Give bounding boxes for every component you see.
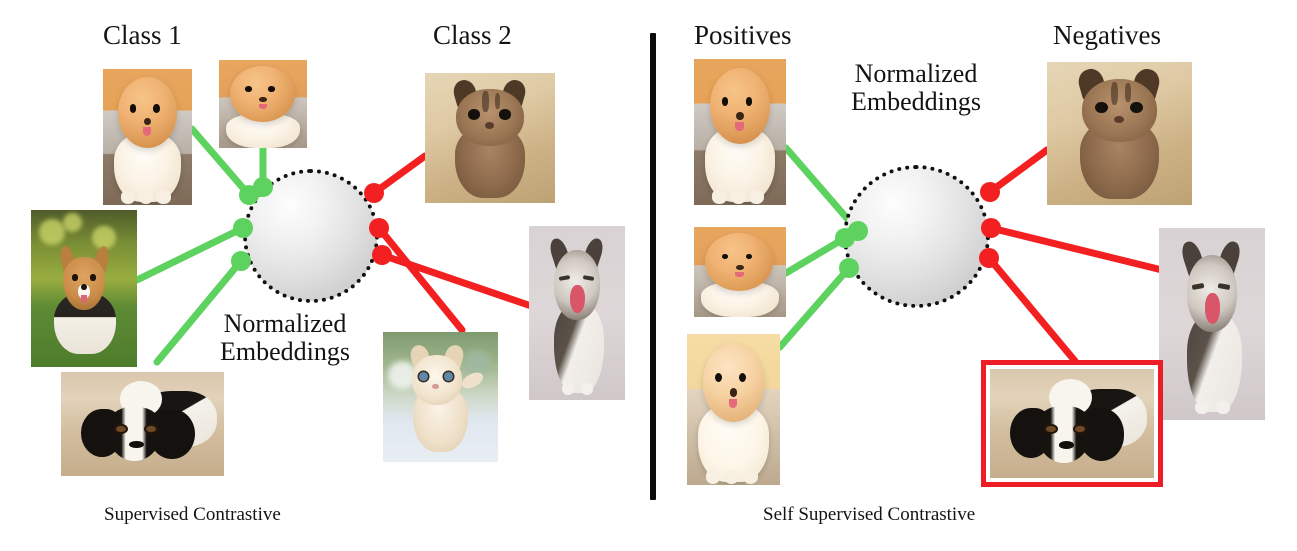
figure-canvas: Class 1 Class 2 (0, 0, 1297, 551)
sample-sup-pos-4[interactable] (61, 372, 224, 476)
normalized-embeddings-label-right: Normalized Embeddings (806, 60, 1026, 116)
sample-ssl-neg-2[interactable] (1159, 228, 1265, 420)
heading-negatives: Negatives (1053, 22, 1161, 49)
heading-positives: Positives (694, 22, 792, 49)
sample-ssl-pos-2[interactable] (694, 227, 786, 317)
panel-supervised: Class 1 Class 2 (0, 0, 653, 551)
embedding-sphere-outline-left (243, 169, 379, 303)
heading-class-2: Class 2 (433, 22, 512, 49)
label-line-1: Normalized (806, 60, 1026, 88)
sample-ssl-neg-1[interactable] (1047, 62, 1192, 205)
heading-class-1: Class 1 (103, 22, 182, 49)
normalized-embeddings-label-left: Normalized Embeddings (185, 310, 385, 366)
label-line-2: Embeddings (185, 338, 385, 366)
label-line-1: Normalized (185, 310, 385, 338)
sample-ssl-pos-1[interactable] (694, 59, 786, 205)
label-line-2: Embeddings (806, 88, 1026, 116)
embedding-sphere-outline-right (843, 165, 990, 308)
caption-self-supervised: Self Supervised Contrastive (763, 505, 975, 524)
sample-sup-pos-2[interactable] (219, 60, 307, 148)
caption-supervised: Supervised Contrastive (104, 505, 281, 524)
sample-ssl-pos-3[interactable] (687, 334, 780, 485)
sample-sup-neg-3[interactable] (529, 226, 625, 400)
sample-ssl-neg-3[interactable] (990, 369, 1154, 478)
sample-sup-pos-1[interactable] (103, 69, 192, 205)
sample-sup-pos-3[interactable] (31, 210, 137, 367)
sample-ssl-neg-3-highlight[interactable] (981, 360, 1163, 487)
panel-self-supervised: Positives Negatives (653, 0, 1297, 551)
sample-sup-neg-1[interactable] (425, 73, 555, 203)
sample-sup-neg-2[interactable] (383, 332, 498, 462)
